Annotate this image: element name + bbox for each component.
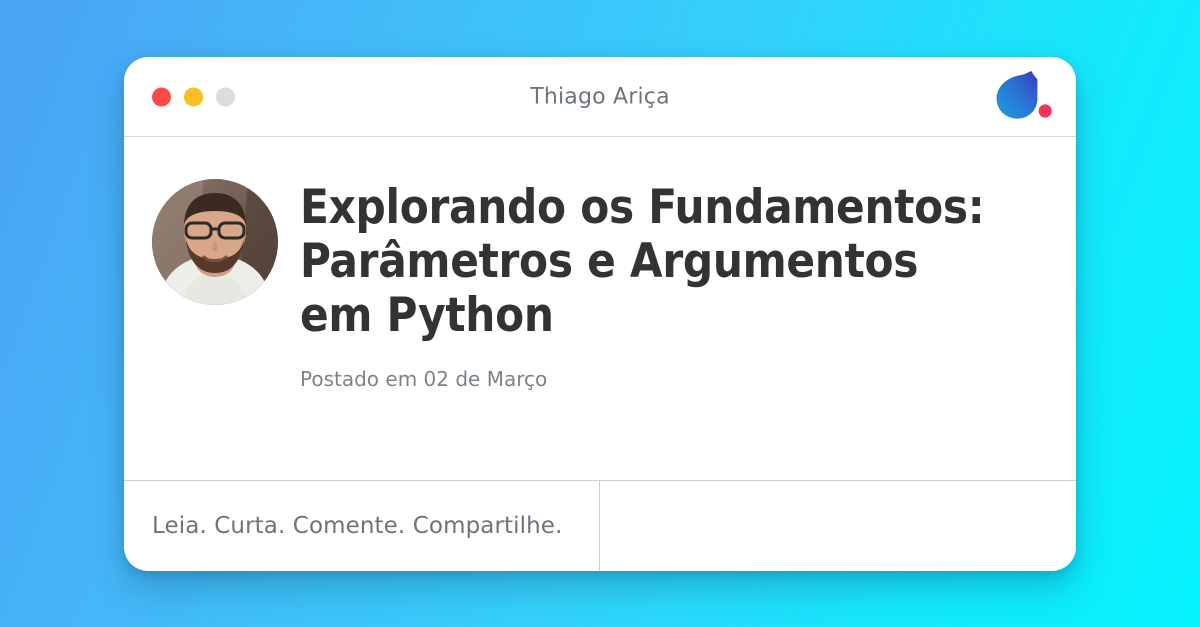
footer-cta-cell: Leia. Curta. Comente. Compartilhe.	[124, 481, 600, 571]
post-text-block: Explorando os Fundamentos: Parâmetros e …	[300, 179, 1046, 480]
poster-background: Thiago Ariça	[0, 0, 1200, 627]
card-footer: Leia. Curta. Comente. Compartilhe.	[124, 481, 1076, 571]
post-date: Postado em 02 de Março	[300, 367, 1046, 391]
avatar	[152, 179, 278, 305]
window-title: Thiago Ariça	[124, 84, 1076, 109]
post-body: Explorando os Fundamentos: Parâmetros e …	[124, 137, 1076, 481]
droplet-logo-icon	[992, 70, 1054, 124]
page-title: Explorando os Fundamentos: Parâmetros e …	[300, 181, 990, 343]
browser-window-card: Thiago Ariça	[124, 57, 1076, 571]
footer-cta-text: Leia. Curta. Comente. Compartilhe.	[152, 513, 562, 539]
window-titlebar: Thiago Ariça	[124, 57, 1076, 137]
footer-empty-cell	[600, 481, 1076, 571]
